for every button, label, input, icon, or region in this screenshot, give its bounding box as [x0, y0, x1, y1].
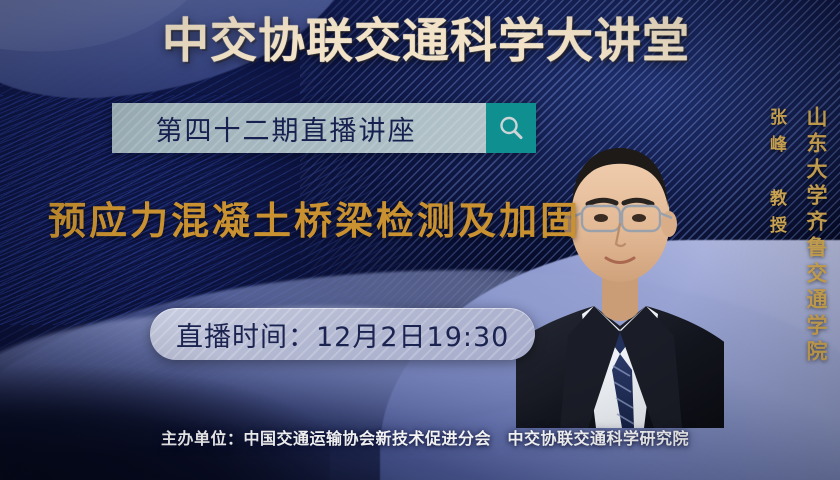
bottom-left-shadow [0, 360, 330, 480]
page-title: 中交协联交通科学大讲堂 [0, 18, 840, 65]
search-icon[interactable] [486, 103, 536, 153]
lecture-topic: 预应力混凝土桥梁检测及加固 [48, 190, 581, 245]
organizer-footer: 主办单位：中国交通运输协会新技术促进分会 中交协联交通科学研究院 [0, 425, 840, 449]
speaker-name: 张峰 教授 [767, 108, 784, 243]
episode-banner: 第四十二期直播讲座 [112, 103, 536, 153]
broadcast-time-badge: 直播时间：12月2日19:30 [150, 308, 535, 360]
speaker-affiliation: 山东大学齐鲁交通学院 [805, 106, 826, 366]
live-lecture-poster: 中交协联交通科学大讲堂 第四十二期直播讲座 预应力混凝土桥梁检测及加固 直播时间… [0, 0, 840, 480]
episode-label: 第四十二期直播讲座 [112, 103, 486, 153]
speaker-portrait [516, 98, 724, 428]
